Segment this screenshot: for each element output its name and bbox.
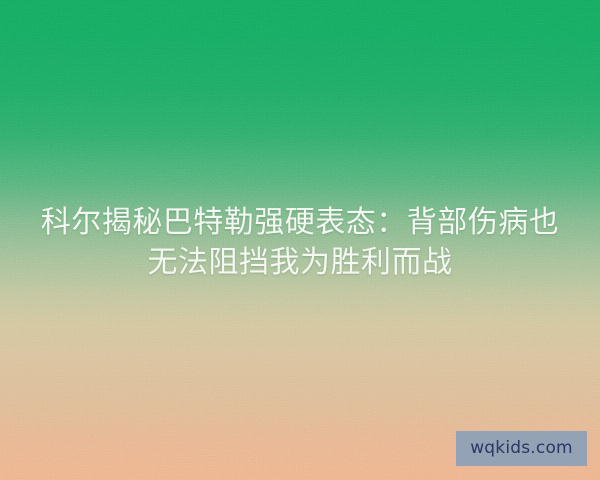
watermark-label: wqkids.com — [470, 440, 573, 457]
page-title: 科尔揭秘巴特勒强硬表态：背部伤病也无法阻挡我为胜利而战 — [26, 203, 574, 283]
watermark-badge: wqkids.com — [456, 431, 587, 466]
image-canvas: 科尔揭秘巴特勒强硬表态：背部伤病也无法阻挡我为胜利而战 wqkids.com — [0, 0, 600, 480]
